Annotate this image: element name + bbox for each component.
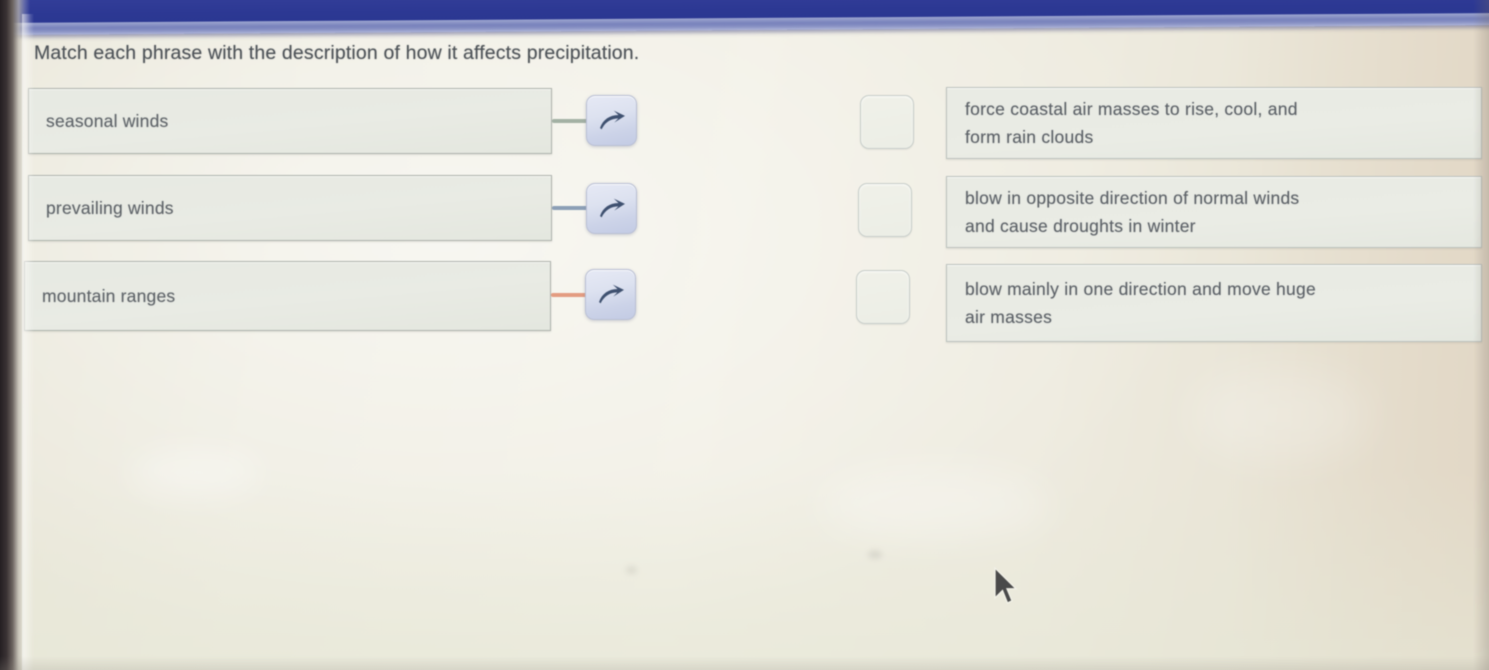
curved-arrow-right-icon	[596, 283, 626, 307]
match-row: seasonal winds	[28, 88, 648, 154]
description-tile-1[interactable]: force coastal air masses to rise, cool, …	[946, 87, 1482, 159]
screen-photo: Match each phrase with the description o…	[0, 0, 1489, 670]
phrase-tile-label: prevailing winds	[29, 198, 174, 219]
description-line: form rain clouds	[965, 123, 1465, 151]
description-line: and cause droughts in winter	[965, 212, 1465, 240]
description-line: air masses	[965, 303, 1465, 331]
description-line: blow mainly in one direction and move hu…	[965, 275, 1465, 303]
drop-target-slot-1[interactable]	[860, 95, 914, 149]
description-tile-3[interactable]: blow mainly in one direction and move hu…	[946, 264, 1482, 342]
match-row: mountain ranges	[24, 261, 644, 331]
description-line: blow in opposite direction of normal win…	[965, 184, 1465, 212]
phrase-tile-label: mountain ranges	[25, 286, 175, 307]
phrase-tile-prevailing-winds[interactable]: prevailing winds	[28, 175, 552, 241]
match-row: prevailing winds	[28, 175, 648, 241]
phrase-tile-label: seasonal winds	[29, 111, 168, 132]
phrase-tile-mountain-ranges[interactable]: mountain ranges	[24, 261, 551, 331]
phrase-tile-seasonal-winds[interactable]: seasonal winds	[28, 88, 552, 154]
drop-target-slot-2[interactable]	[858, 183, 912, 237]
description-line: force coastal air masses to rise, cool, …	[965, 95, 1465, 123]
curved-arrow-right-icon	[597, 109, 627, 133]
curved-arrow-right-icon	[597, 197, 627, 221]
page-title: Match each phrase with the description o…	[34, 42, 639, 65]
drop-target-slot-3[interactable]	[856, 270, 910, 324]
match-arrow-button-mountain-ranges[interactable]	[585, 269, 636, 320]
match-arrow-button-seasonal-winds[interactable]	[586, 95, 637, 146]
description-tile-2[interactable]: blow in opposite direction of normal win…	[946, 176, 1482, 248]
match-arrow-button-prevailing-winds[interactable]	[586, 183, 637, 234]
